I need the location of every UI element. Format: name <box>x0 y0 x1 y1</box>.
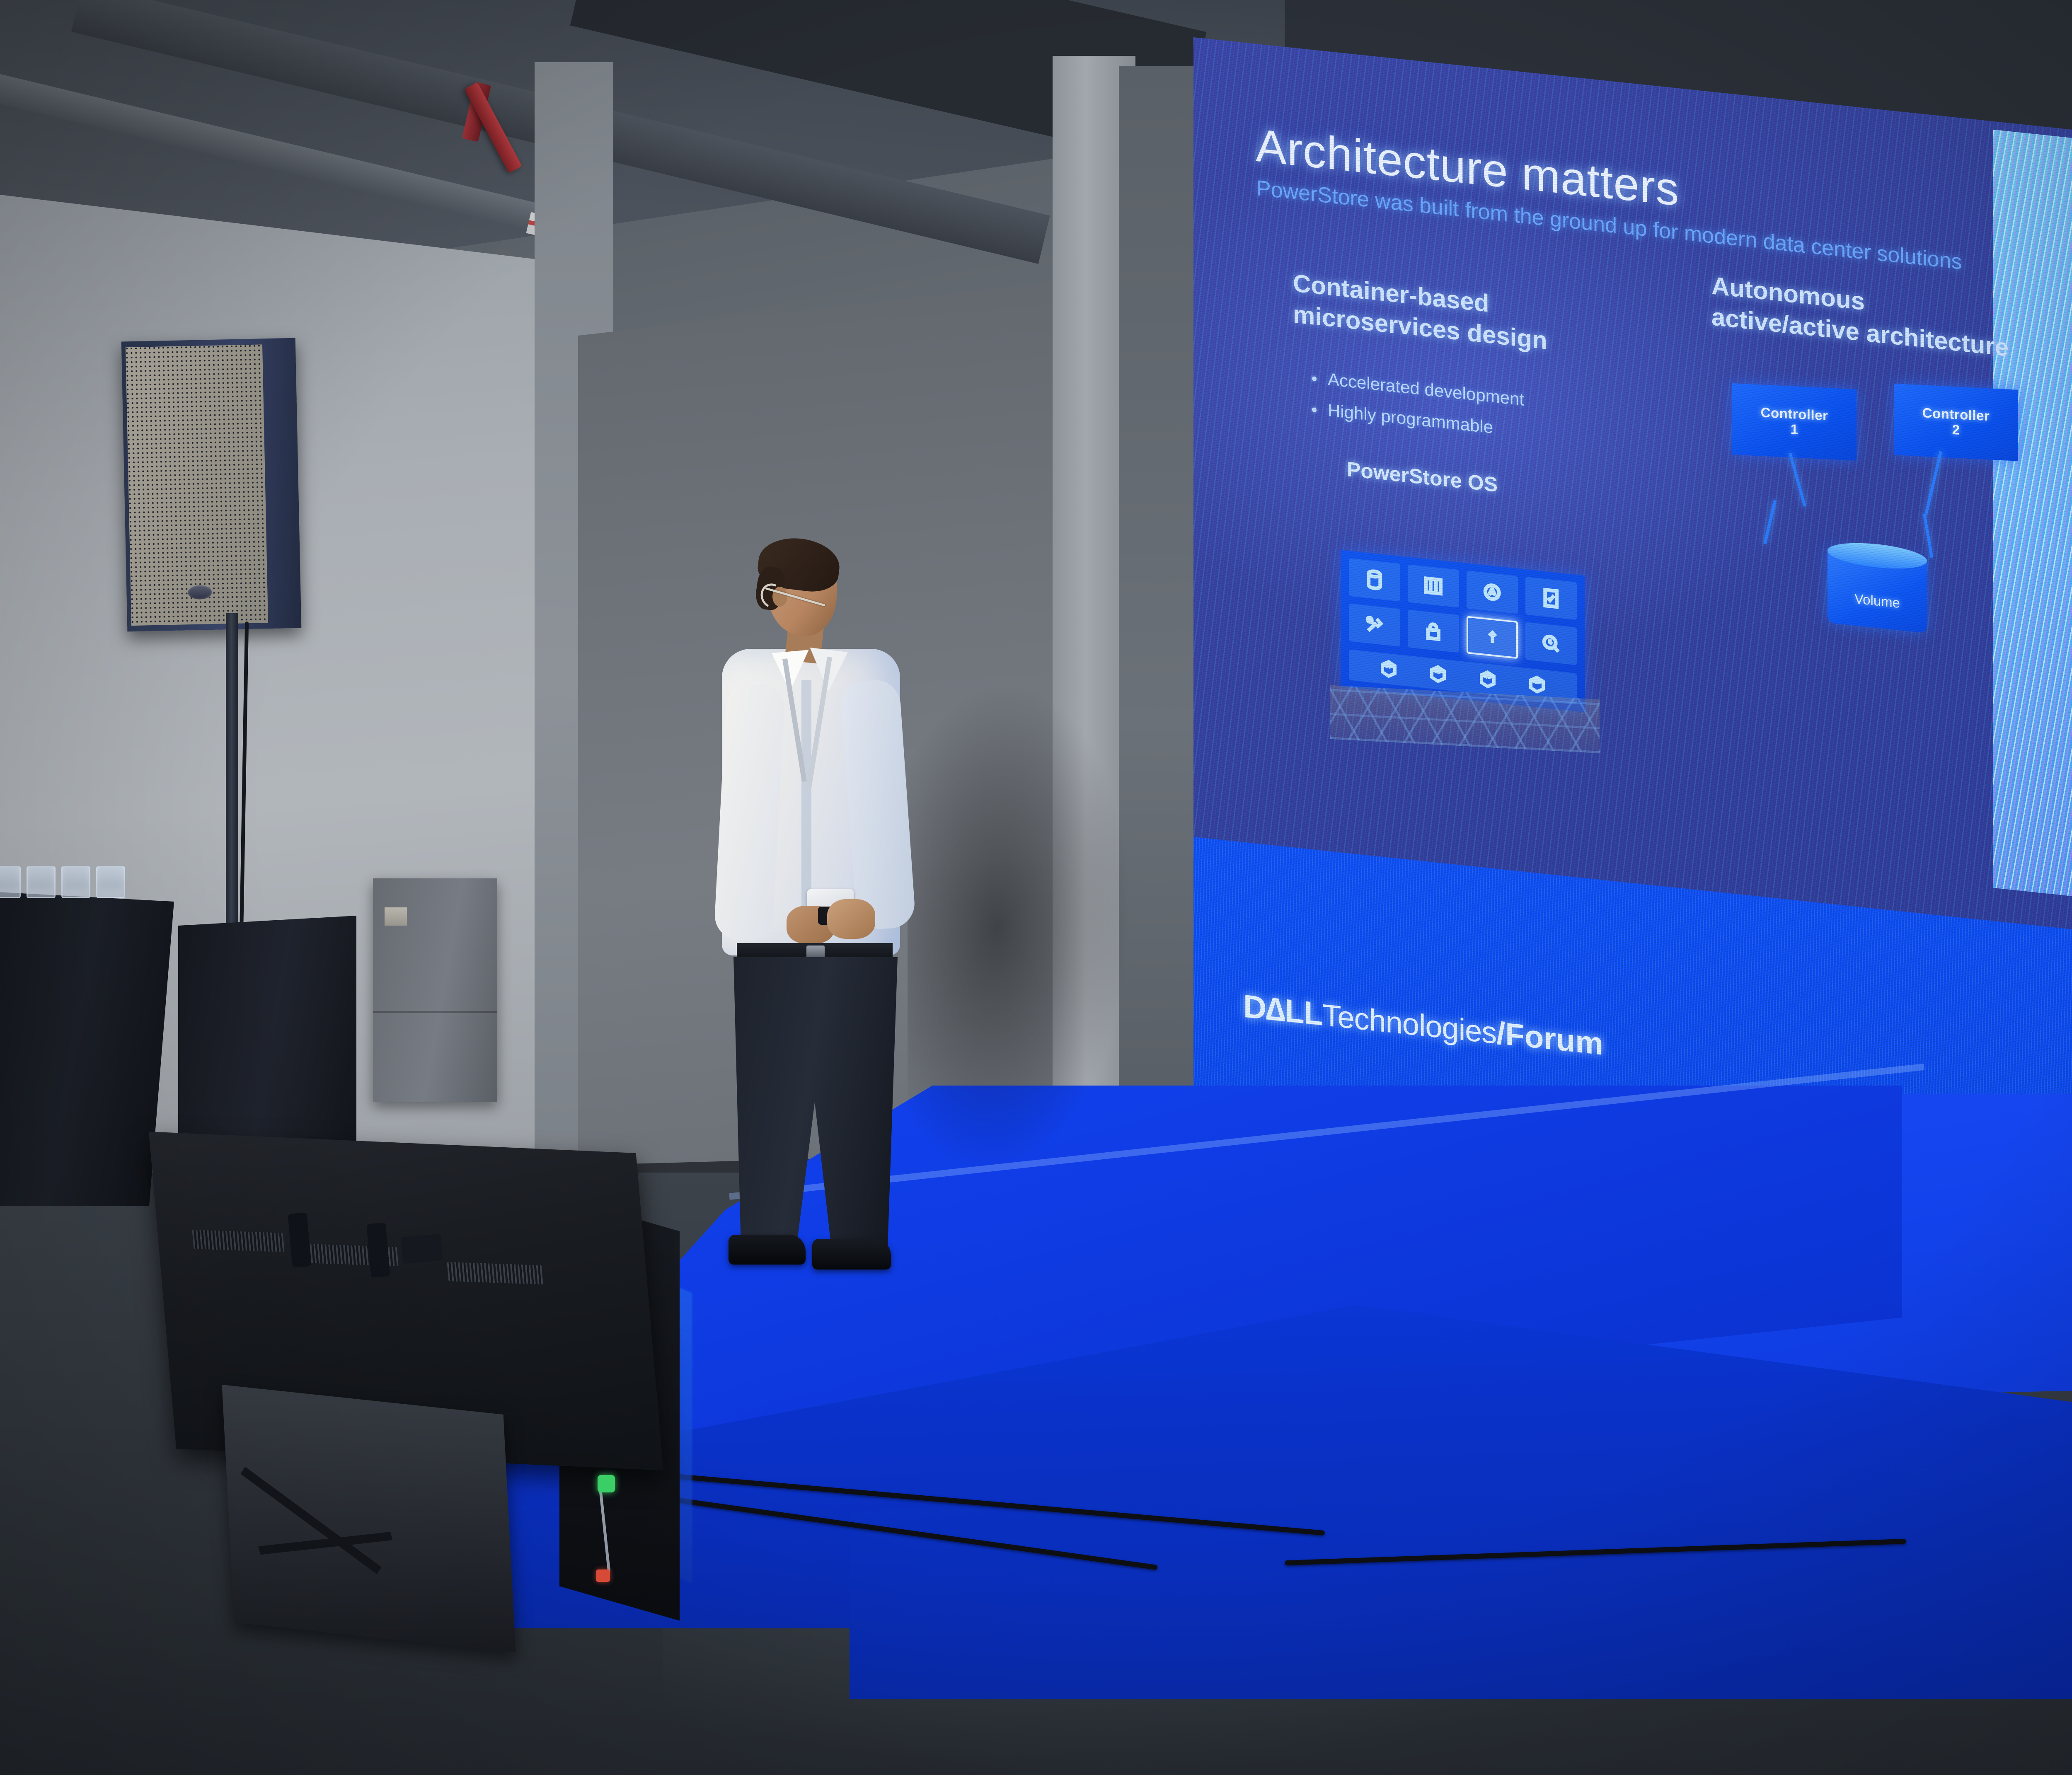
monitor-vent <box>447 1262 543 1284</box>
green-connector-plug <box>598 1475 615 1492</box>
water-glass <box>0 866 21 898</box>
monitor-connector-box <box>401 1234 443 1264</box>
water-glasses <box>0 866 125 898</box>
presenter-shadow <box>908 664 1131 1184</box>
presenter-trousers <box>733 957 898 1247</box>
water-glass <box>96 866 125 898</box>
presenter-hand-right <box>827 899 875 939</box>
monitor-stand-leg <box>241 1467 382 1574</box>
pa-speaker-grille <box>126 344 268 626</box>
presenter-shoe-left <box>729 1235 806 1265</box>
cabinet-label <box>385 907 407 926</box>
presenter <box>675 534 941 1276</box>
presenter-shoe-right <box>812 1239 891 1270</box>
water-glass <box>27 866 56 898</box>
monitor-stand-plate <box>222 1385 516 1652</box>
red-connector-plug <box>596 1569 610 1582</box>
water-glass <box>61 866 90 898</box>
pa-speaker <box>121 338 302 632</box>
presenter-shirt-placket <box>801 680 811 912</box>
monitor-vent <box>192 1230 284 1252</box>
confidence-monitor[interactable] <box>112 1144 675 1682</box>
cabinet-seam <box>373 1011 497 1013</box>
wall-cabinet <box>373 878 497 1102</box>
conference-stage-photo: Architecture matters PowerStore was buil… <box>0 0 2072 1775</box>
